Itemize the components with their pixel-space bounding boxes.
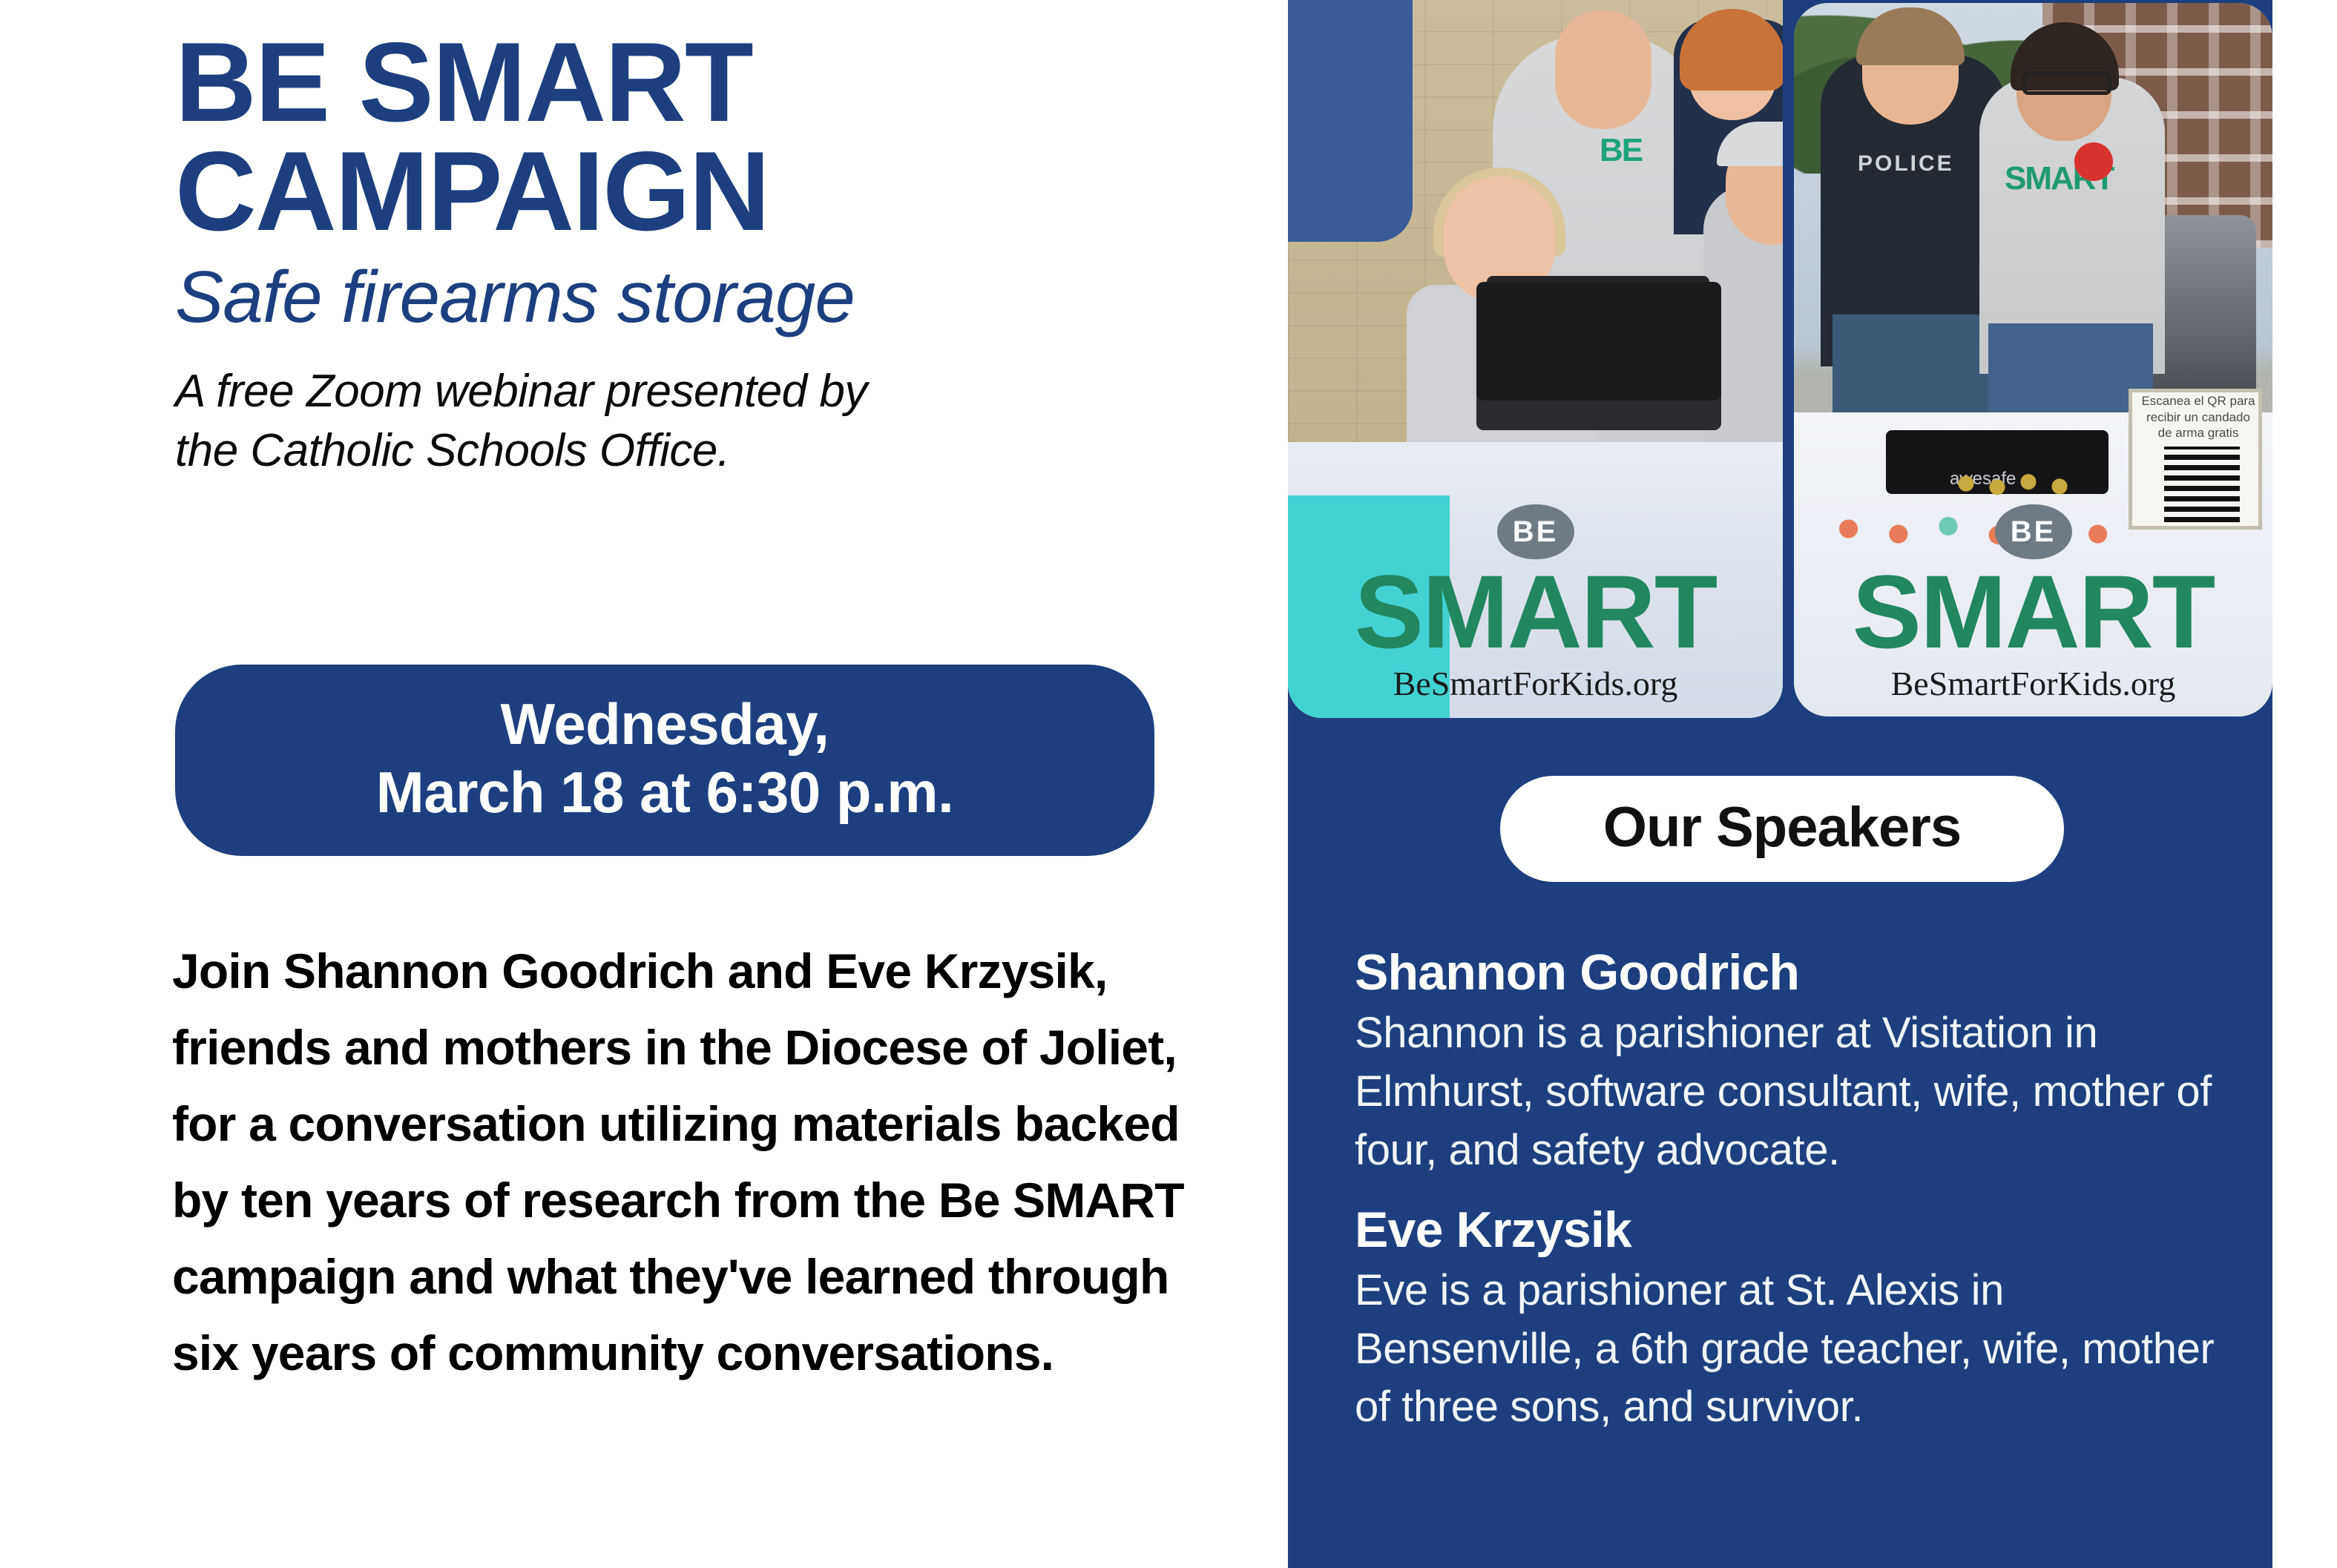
photo-gallery: BE BE SMART BeSmartForKids. <box>1288 0 2272 718</box>
photo2-scattered-items <box>1935 466 2091 501</box>
event-description: Join Shannon Goodrich and Eve Krzysik, f… <box>172 933 1196 1391</box>
speaker-entry: Shannon Goodrich Shannon is a parishione… <box>1355 943 2230 1180</box>
photo1-smart-wordmark: SMART <box>1288 562 1783 661</box>
speakers-heading-label: Our Speakers <box>1603 796 1961 859</box>
photo2-volunteer-glasses <box>2022 71 2111 95</box>
photo2-police-patch: POLICE <box>1858 151 1954 177</box>
left-content-column: BE SMART CAMPAIGN Safe firearms storage … <box>0 0 1288 1568</box>
photo2-be-chip: BE <box>1995 504 2072 559</box>
photo1-woman-head <box>1555 10 1651 129</box>
photo1-be-chip: BE <box>1497 504 1574 559</box>
speaker-name: Shannon Goodrich <box>1355 943 2230 1001</box>
speakers-list: Shannon Goodrich Shannon is a parishione… <box>1355 943 2230 1457</box>
speakers-heading-pill: Our Speakers <box>1500 776 2064 882</box>
event-date-badge: Wednesday, March 18 at 6:30 p.m. <box>175 665 1154 856</box>
decorative-rounded-rectangle <box>1288 0 1413 242</box>
event-date-text: Wednesday, March 18 at 6:30 p.m. <box>205 690 1125 826</box>
right-blue-panel: BE BE SMART BeSmartForKids. <box>1288 0 2272 1568</box>
speaker-bio: Shannon is a parishioner at Visitation i… <box>1355 1004 2230 1180</box>
photo1-shirt-logo: BE <box>1600 132 1668 177</box>
poster-canvas: BE SMART CAMPAIGN Safe firearms storage … <box>0 0 2337 1568</box>
speaker-entry: Eve Krzysik Eve is a parishioner at St. … <box>1355 1201 2230 1437</box>
title-block: BE SMART CAMPAIGN Safe firearms storage … <box>175 28 1229 481</box>
photo2-red-button-badge <box>2074 142 2113 181</box>
photo2-besmart-banner: BE SMART BeSmartForKids.org <box>1794 504 2272 703</box>
photo1-gun-safe <box>1476 282 1721 430</box>
page-subtitle: Safe firearms storage <box>175 259 1229 335</box>
photo2-smart-wordmark: SMART <box>1794 562 2272 661</box>
photo2-qr-caption: Escanea el QR para recibir un candado de… <box>2140 393 2256 441</box>
photo1-besmart-banner: BE SMART BeSmartForKids.org <box>1288 504 1783 703</box>
presented-by-text: A free Zoom webinar presented by the Cat… <box>175 362 1229 481</box>
speaker-name: Eve Krzysik <box>1355 1201 2230 1259</box>
page-title: BE SMART CAMPAIGN <box>175 28 1229 247</box>
photo-besmart-table-outdoor: POLICE SMART awesafe Escanea el QR para … <box>1794 3 2272 717</box>
speaker-bio: Eve is a parishioner at St. Alexis in Be… <box>1355 1262 2230 1437</box>
